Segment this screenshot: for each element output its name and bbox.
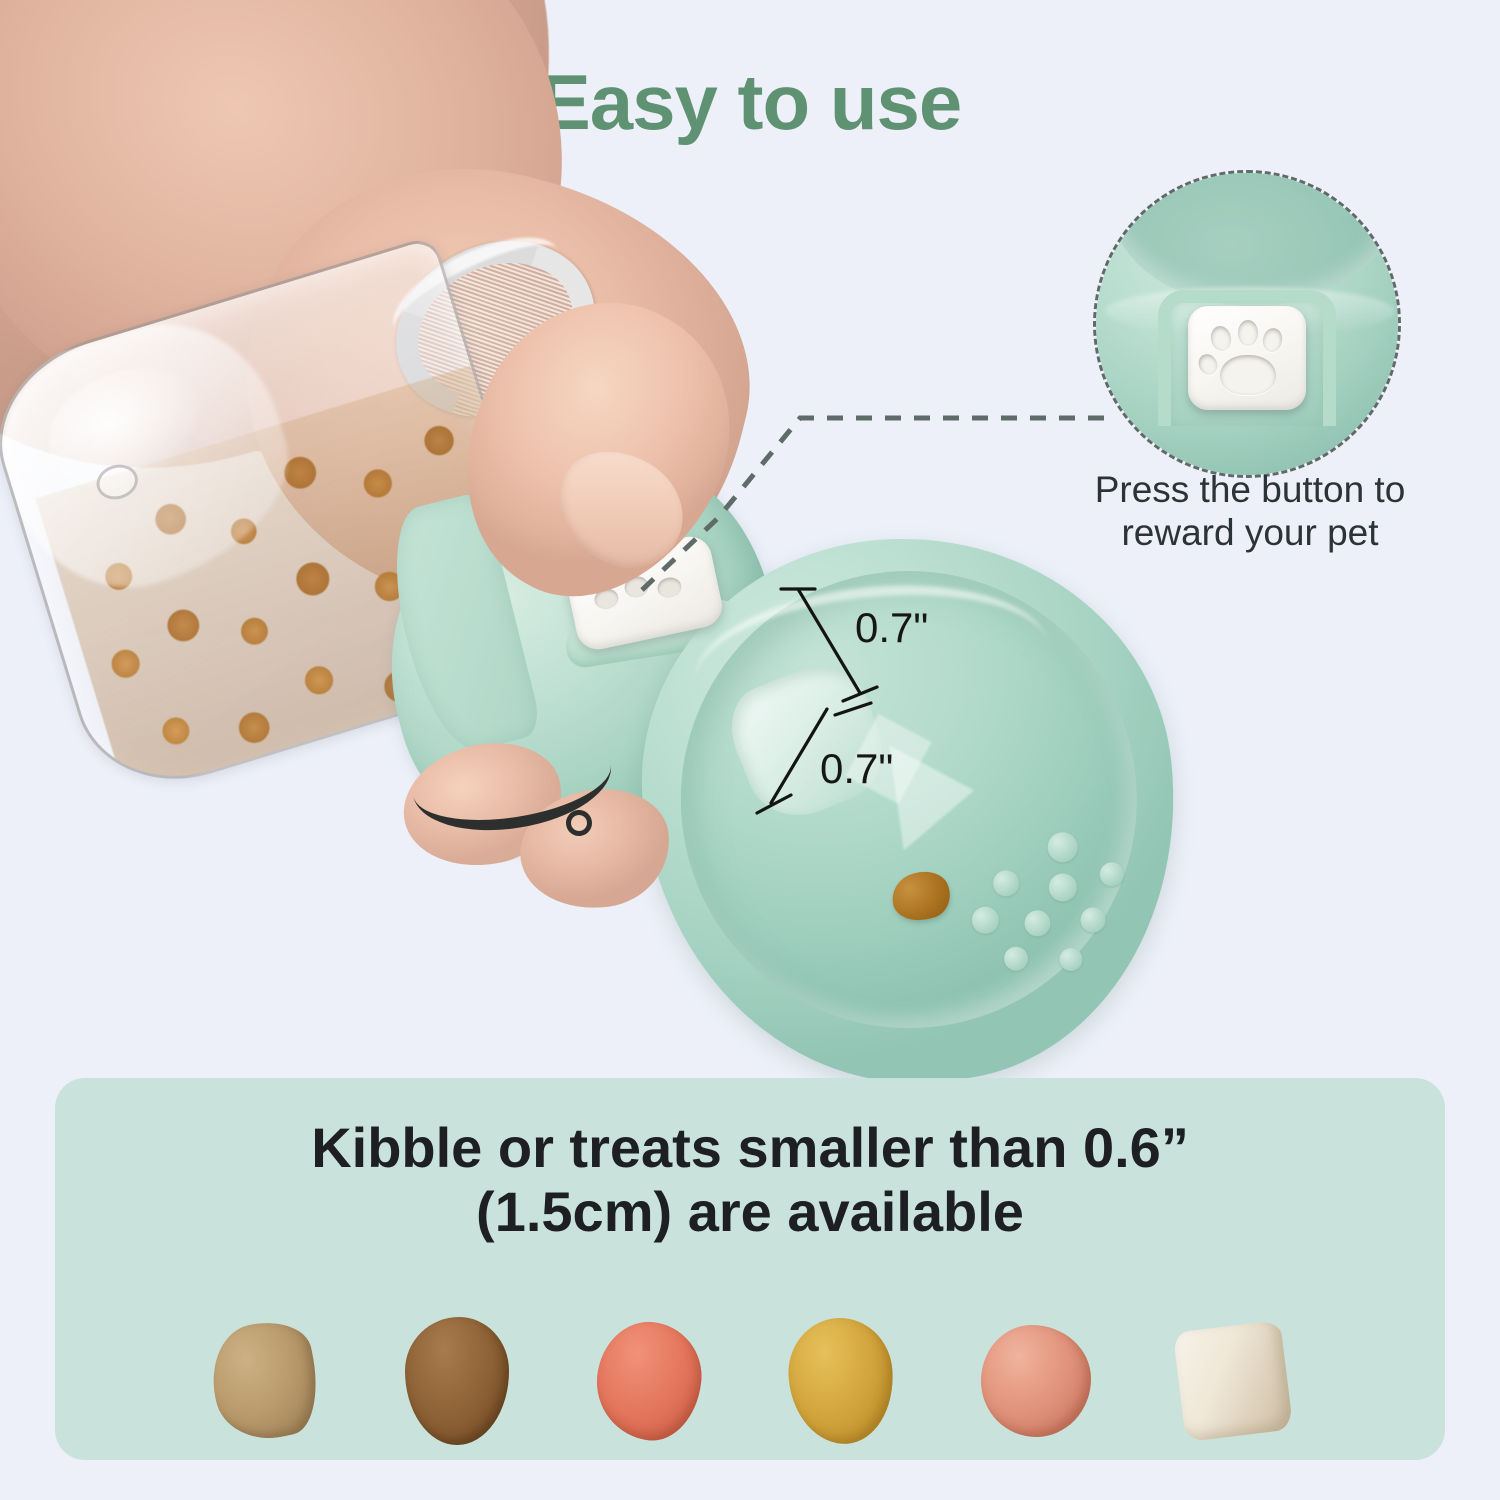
banner-line-2: (1.5cm) are available (95, 1180, 1405, 1244)
treat-sample (213, 1323, 317, 1439)
treat-sample (405, 1317, 509, 1445)
banner-line-1: Kibble or treats smaller than 0.6” (95, 1116, 1405, 1180)
treat-sample (1179, 1326, 1287, 1436)
callout-caption: Press the button to reward your pet (1040, 468, 1460, 555)
kibble-in-bowl (886, 865, 955, 927)
treat-samples-row (55, 1306, 1445, 1456)
compatibility-banner: Kibble or treats smaller than 0.6” (1.5c… (55, 1078, 1445, 1460)
callout-dispense-button[interactable] (1188, 306, 1305, 411)
callout-zoom-circle (1093, 170, 1401, 478)
callout-caption-line2: reward your pet (1040, 511, 1460, 554)
callout-caption-line1: Press the button to (1040, 468, 1460, 511)
treat-sample (981, 1325, 1091, 1437)
treat-sample (789, 1318, 893, 1444)
dimension-label-height: 0.7" (855, 604, 928, 652)
treat-sample (597, 1322, 701, 1440)
banner-text: Kibble or treats smaller than 0.6” (1.5c… (55, 1116, 1445, 1245)
dimension-label-width: 0.7" (820, 745, 893, 793)
bowl-nubs (950, 823, 1139, 996)
callout-photo (1093, 170, 1401, 478)
paw-print-icon (1188, 306, 1305, 411)
